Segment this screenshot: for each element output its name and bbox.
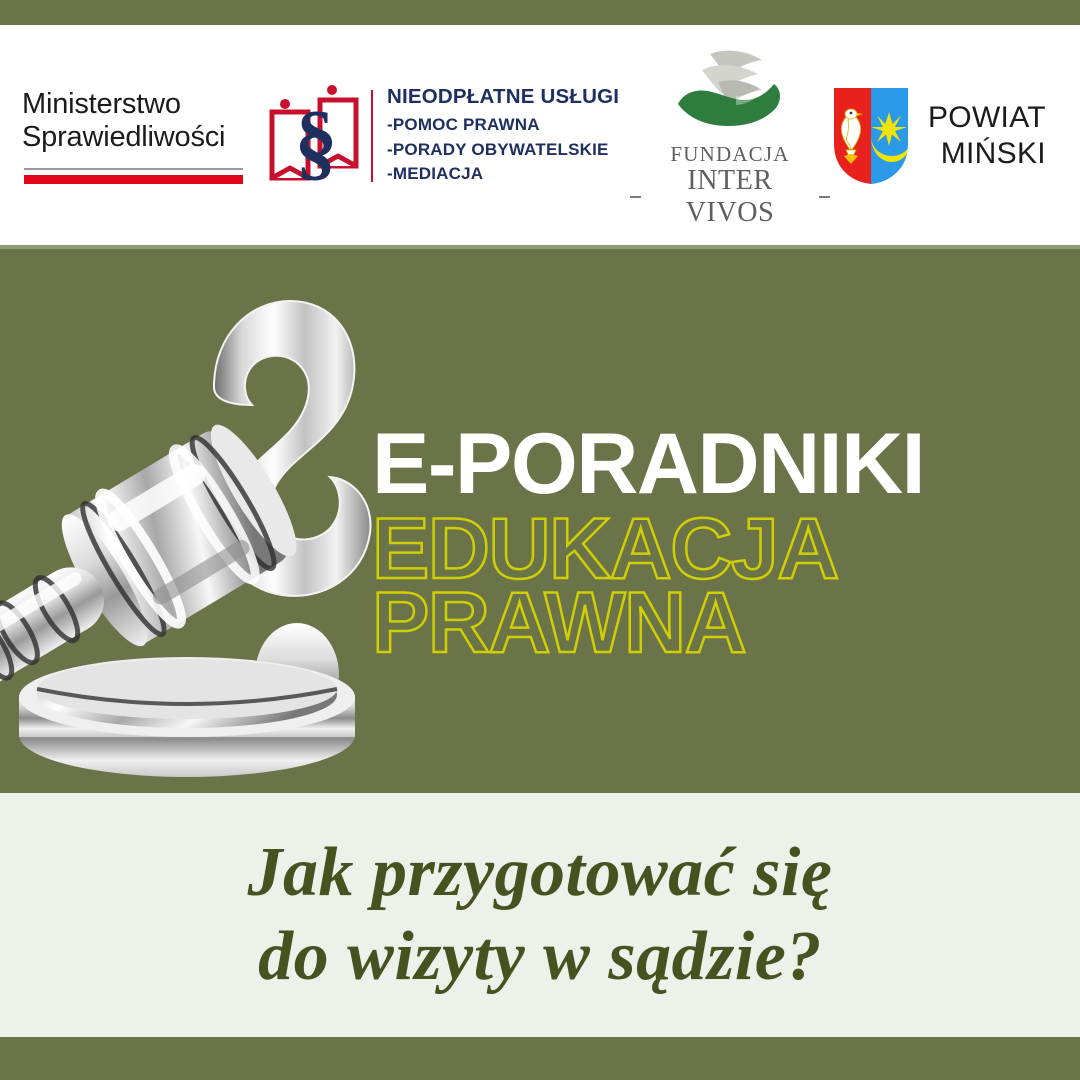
logo-ministerstwo-sprawiedliwosci: Ministerstwo Sprawiedliwości <box>0 88 268 184</box>
nieodplatne-item-3: -MEDIACJA <box>387 162 630 187</box>
nieodplatne-divider <box>371 90 373 182</box>
caption-line-1: Jak przygotować się <box>247 835 832 911</box>
nieodplatne-text-block: NIEODPŁATNE USŁUGI -POMOC PRAWNA -PORADY… <box>387 85 630 187</box>
gavel-illustration <box>0 265 402 785</box>
powiat-line-2: MIŃSKI <box>928 136 1046 172</box>
nieodplatne-title: NIEODPŁATNE USŁUGI <box>387 85 630 109</box>
ministerstwo-red-rule <box>24 175 243 184</box>
svg-text:§: § <box>295 93 338 189</box>
hand-and-dove-icon <box>662 48 798 140</box>
fundacja-line-2-wrap: INTER VIVOS <box>630 165 830 229</box>
fundacja-line-1: FUNDACJA <box>630 142 830 167</box>
hero-title-outline-2: PRAWNA <box>372 584 1072 664</box>
caption-line-2: do wizyty w sądzie? <box>258 919 822 995</box>
partner-logo-row: Ministerstwo Sprawiedliwości <box>0 25 1080 247</box>
logo-nieodplatne-uslugi: § NIEODPŁATNE USŁUGI -POMOC PRAWNA -PORA… <box>268 82 630 190</box>
powiat-text-block: POWIAT MIŃSKI <box>928 100 1046 172</box>
logo-fundacja-inter-vivos: FUNDACJA INTER VIVOS <box>630 44 830 229</box>
coat-of-arms-icon <box>830 84 912 188</box>
nieodplatne-item-2: -PORADY OBYWATELSKIE <box>387 138 630 163</box>
fundacja-dash-right <box>819 196 830 198</box>
nieodplatne-item-1: -POMOC PRAWNA <box>387 113 630 138</box>
hero-title-main: E-PORADNIKI <box>372 425 1072 504</box>
logo-powiat-minski: POWIAT MIŃSKI <box>830 84 1080 188</box>
ministerstwo-line-2: Sprawiedliwości <box>22 121 268 154</box>
ministerstwo-grey-rule <box>24 168 243 170</box>
fundacja-line-2: INTER VIVOS <box>647 165 813 229</box>
open-book-paragraph-icon: § <box>268 82 364 190</box>
poster-root: Ministerstwo Sprawiedliwości <box>0 0 1080 1080</box>
caption-block: Jak przygotować się do wizyty w sądzie? <box>0 793 1080 1037</box>
hero-panel: E-PORADNIKI EDUKACJA PRAWNA <box>0 249 1080 793</box>
bottom-green-band <box>0 1037 1080 1080</box>
top-green-band <box>0 0 1080 25</box>
hero-title-block: E-PORADNIKI EDUKACJA PRAWNA <box>372 425 1072 664</box>
ministerstwo-line-1: Ministerstwo <box>22 88 268 121</box>
fundacja-dash-left <box>630 196 641 198</box>
powiat-line-1: POWIAT <box>928 100 1046 136</box>
